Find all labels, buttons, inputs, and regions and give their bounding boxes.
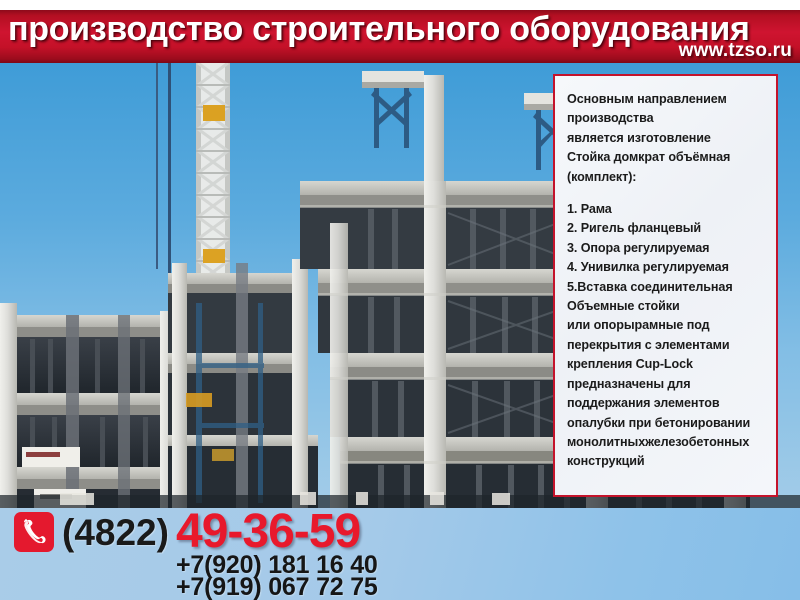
info-line: перекрытия с элементами [567,336,766,355]
phone-area-code: (4822) [62,512,169,554]
info-line: является изготовление [567,129,766,148]
mobile-phone-number-2[interactable]: +7(919) 067 72 75 [176,574,378,600]
info-list-item-3: 3. Опора регулируемая [567,239,766,258]
info-line: Стойка домкрат объёмная [567,148,766,167]
info-list-item-1: 1. Рама [567,200,766,219]
header-band: производство строительного оборудования … [0,10,800,63]
info-line: производства [567,109,766,128]
info-line: крепления Cup-Lock [567,355,766,374]
phone-handset-glyph [21,518,47,546]
product-info-panel: Основным направлением производства являе… [553,74,778,497]
info-line: (комплект): [567,168,766,187]
page-title: производство строительного оборудования [8,10,750,52]
info-line: Основным направлением [567,90,766,109]
info-list-item-5: 5.Вставка соединительная [567,278,766,297]
info-list-item-2: 2. Ригель фланцевый [567,219,766,238]
info-line: или опорырамные под [567,316,766,335]
info-list-item-4: 4. Унивилка регулируемая [567,258,766,277]
info-line: предназначены для [567,375,766,394]
info-line: конструкций [567,452,766,471]
phone-handset-icon [14,512,54,552]
info-line: опалубки при бетонировании [567,414,766,433]
info-line: поддержания элементов [567,394,766,413]
product-info-list: Основным направлением производства являе… [555,76,776,480]
advertisement-banner: производство строительного оборудования … [0,0,800,600]
info-line: Объемные стойки [567,297,766,316]
info-spacer [567,187,766,200]
info-line: монолитныхжелезобетонных [567,433,766,452]
website-url[interactable]: www.tzso.ru [679,39,792,63]
